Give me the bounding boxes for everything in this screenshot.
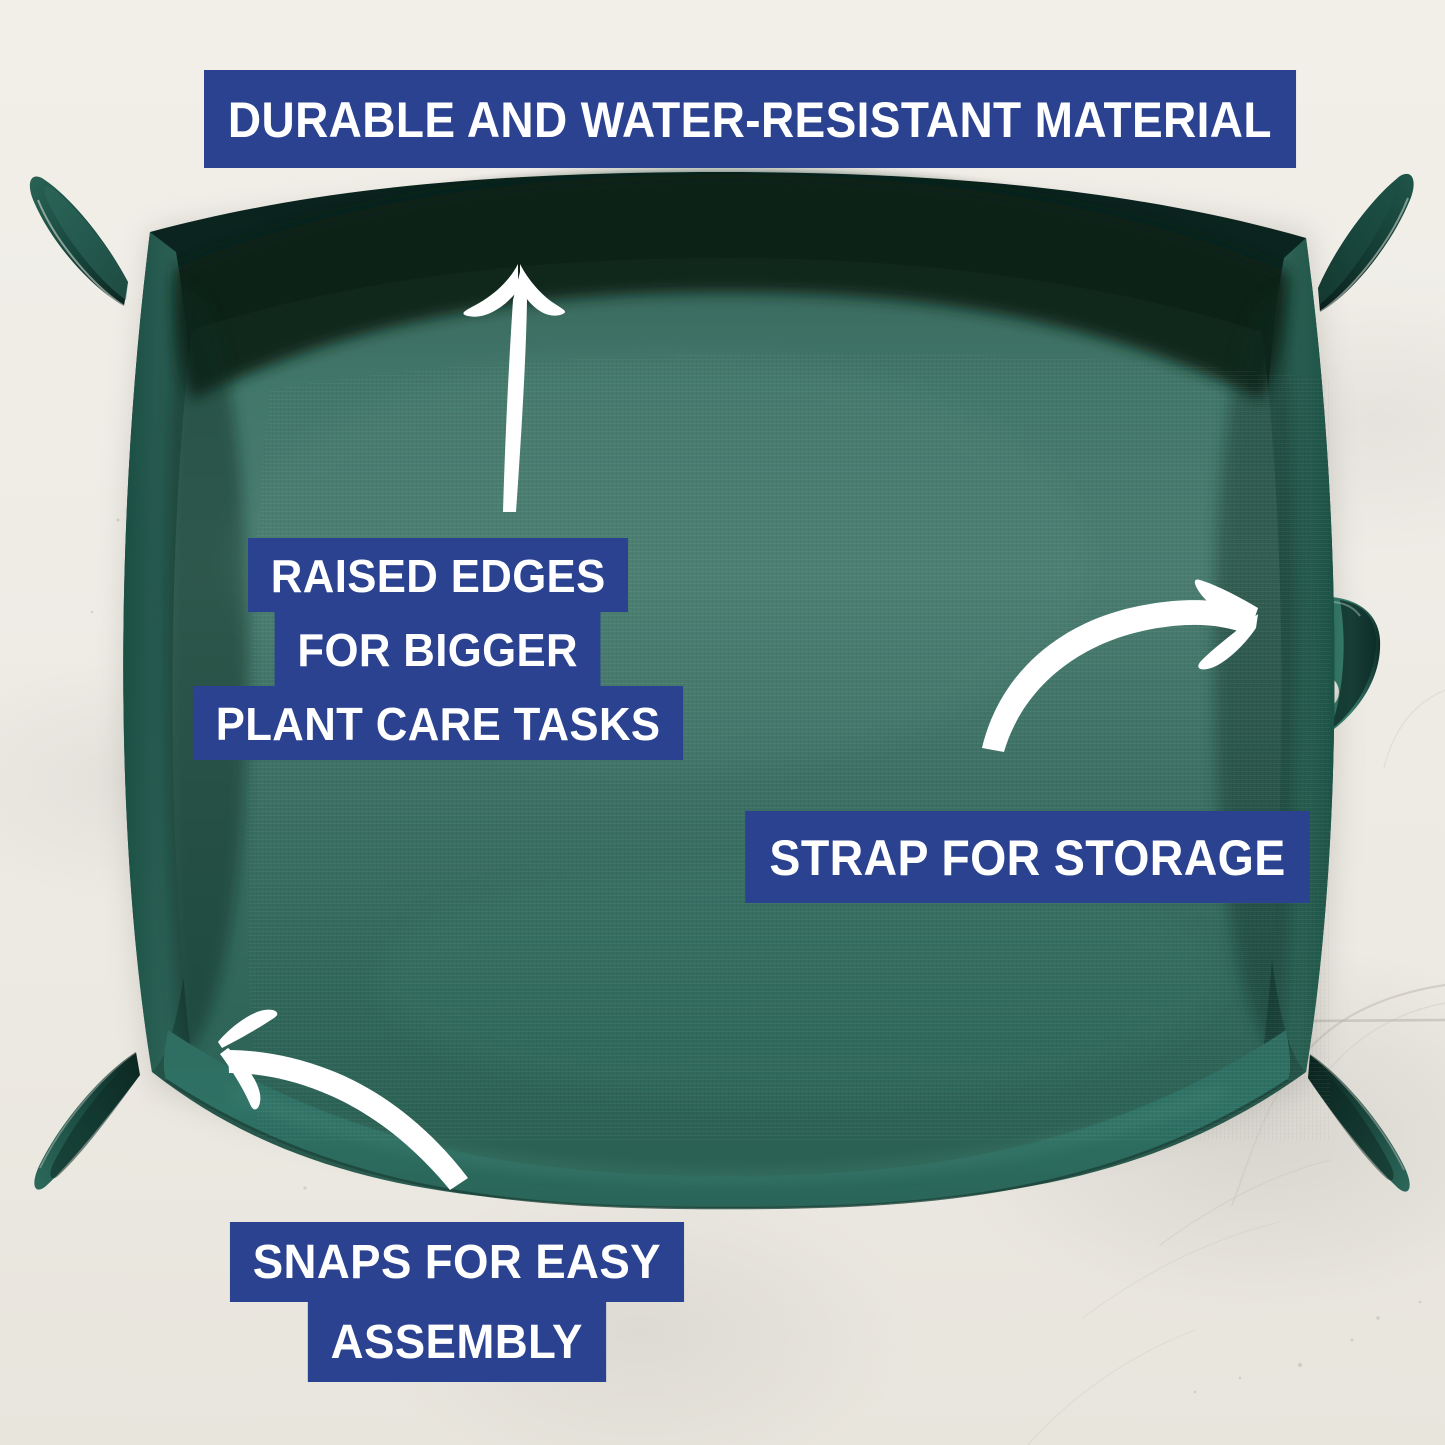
callout-line: SNAPS FOR EASY xyxy=(230,1222,684,1302)
corner-flap-top-left xyxy=(30,176,128,306)
callout-durable-material: DURABLE AND WATER-RESISTANT MATERIAL xyxy=(204,70,1391,168)
callout-strap-for-storage: STRAP FOR STORAGE xyxy=(724,811,1331,903)
callout-line: PLANT CARE TASKS xyxy=(193,686,683,760)
callout-line: RAISED EDGES xyxy=(248,538,628,612)
corner-flap-top-right xyxy=(1318,174,1414,312)
callout-line: FOR BIGGER xyxy=(275,612,601,686)
corner-flap-bottom-left xyxy=(34,1052,140,1190)
product-feature-graphic: DURABLE AND WATER-RESISTANT MATERIAL RAI… xyxy=(0,0,1445,1445)
callout-line: STRAP FOR STORAGE xyxy=(745,811,1310,903)
callout-snaps-for-assembly: SNAPS FOR EASY ASSEMBLY xyxy=(218,1222,696,1382)
callout-line: ASSEMBLY xyxy=(308,1302,606,1382)
callout-line: DURABLE AND WATER-RESISTANT MATERIAL xyxy=(204,70,1296,168)
callout-raised-edges: RAISED EDGES FOR BIGGER PLANT CARE TASKS xyxy=(180,538,696,760)
corner-flap-bottom-right xyxy=(1308,1054,1410,1192)
